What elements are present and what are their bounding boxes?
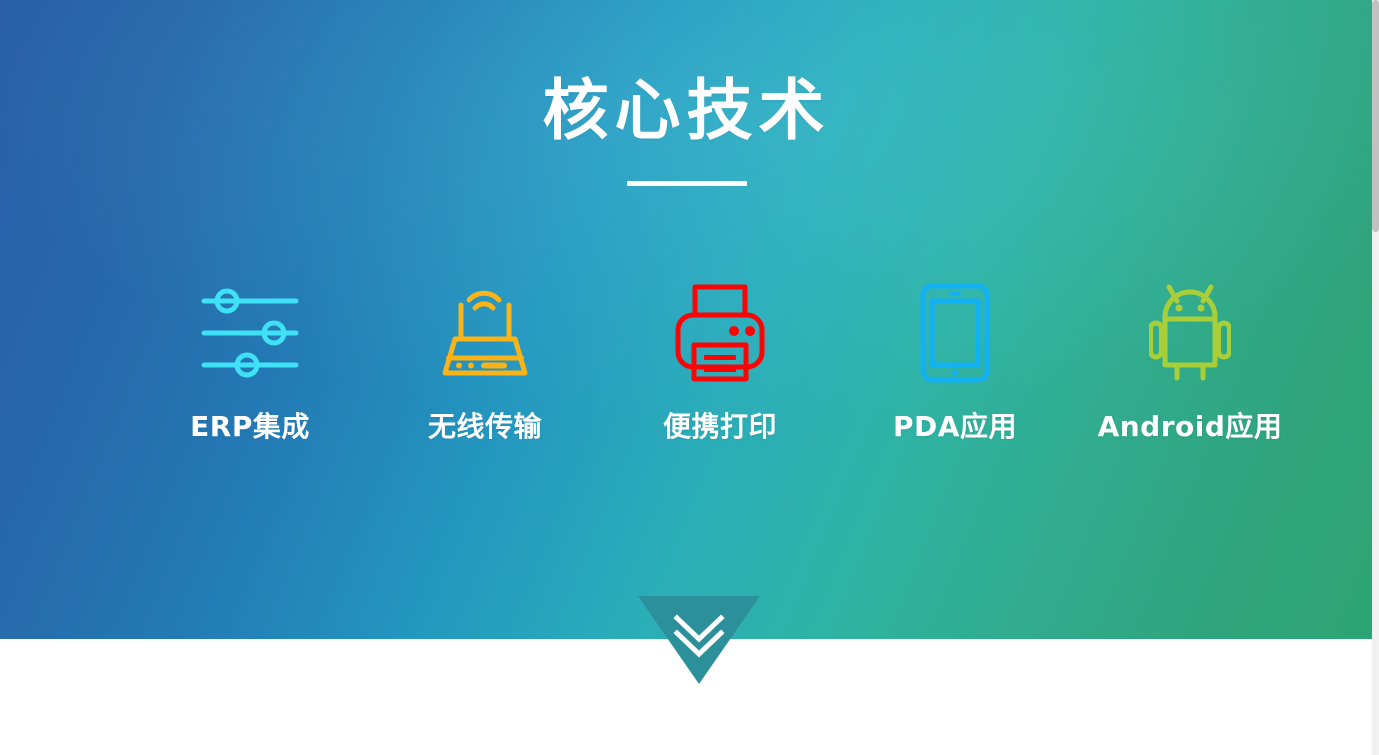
tablet-device-icon: [919, 283, 991, 383]
title-underline: [627, 181, 747, 186]
page-title: 核心技术: [0, 76, 1373, 145]
vertical-scrollbar-track[interactable]: [1372, 0, 1379, 755]
feature-label-android: Android应用: [1098, 405, 1283, 445]
feature-item-printer[interactable]: 便携打印: [620, 283, 820, 445]
feature-list: ERP集成: [150, 283, 1290, 445]
scroll-down-button[interactable]: [638, 596, 760, 684]
page-root: 核心技术: [0, 0, 1379, 755]
hero-banner: 核心技术: [0, 0, 1373, 639]
feature-label-wireless: 无线传输: [428, 405, 542, 445]
android-robot-icon: [1149, 283, 1231, 383]
scroll-tab-shape: [638, 596, 760, 684]
hero-title-block: 核心技术: [0, 76, 1373, 186]
feature-label-erp: ERP集成: [190, 405, 310, 445]
printer-icon: [672, 283, 768, 383]
feature-label-pda: PDA应用: [893, 405, 1017, 445]
vertical-scrollbar-thumb[interactable]: [1372, 0, 1379, 232]
feature-item-erp[interactable]: ERP集成: [150, 283, 350, 445]
wireless-router-icon: [433, 283, 537, 383]
feature-item-pda[interactable]: PDA应用: [855, 283, 1055, 445]
feature-item-android[interactable]: Android应用: [1090, 283, 1290, 445]
feature-item-wireless[interactable]: 无线传输: [385, 283, 585, 445]
feature-label-printer: 便携打印: [663, 405, 777, 445]
sliders-icon: [200, 283, 300, 383]
